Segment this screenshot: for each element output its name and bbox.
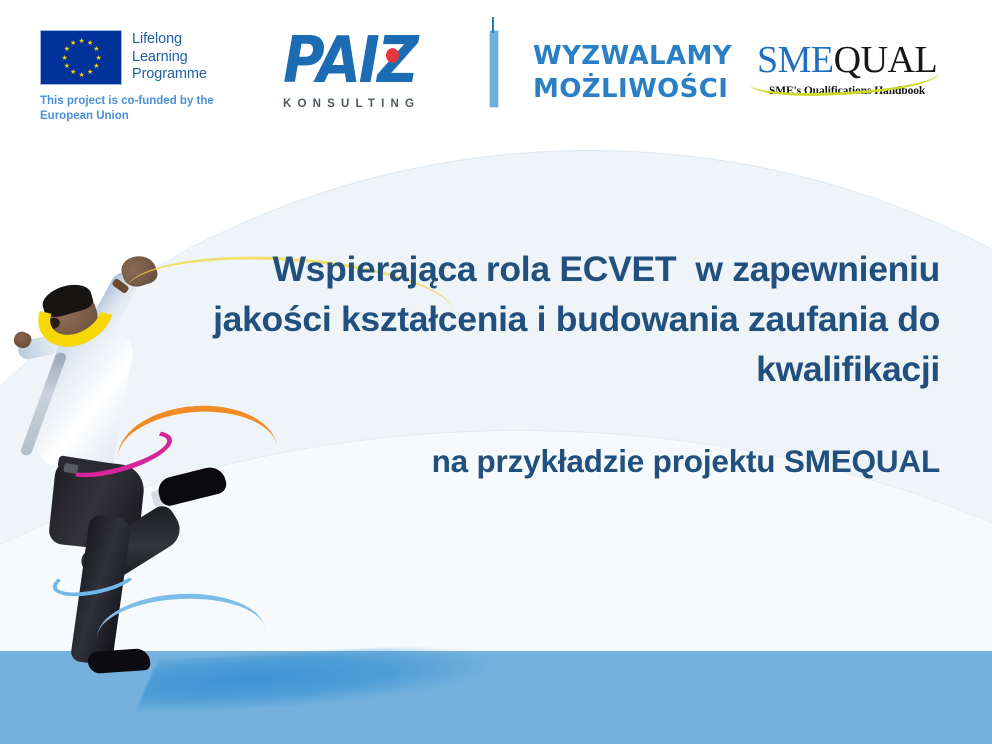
paiz-red-dot-icon [386,48,399,63]
logo-header-strip: Lifelong Learning Programme This project… [0,0,992,140]
claim-line-2: MOŻLIWOŚCI [533,73,732,106]
slide-title: Wspierająca rola ECVET w zapewnieniu jak… [180,244,940,394]
presentation-slide: Lifelong Learning Programme This project… [0,0,992,744]
smequal-tagline: SME's Qualifications Handbook [757,85,937,97]
eu-line-3: Programme [132,66,207,84]
eu-line-2: Learning [132,49,207,67]
smequal-sme-part: SME [757,39,834,81]
title-block: Wspierająca rola ECVET w zapewnieniu jak… [180,244,940,481]
company-claim: WYZWALAMY MOŻLIWOŚCI [533,40,732,106]
smequal-logo: SMEQUAL SME's Qualifications Handbook [757,40,937,97]
paiz-subtitle: KONSULTING [283,98,420,110]
paiz-konsulting-logo: PAIZ KONSULTING [283,28,420,110]
european-union-flag-icon [40,30,122,85]
eu-line-1: Lifelong [132,31,207,49]
eu-funding-caption: This project is co-funded by the Europea… [40,94,225,124]
eu-lifelong-learning-logo: Lifelong Learning Programme This project… [40,30,225,124]
eu-programme-name: Lifelong Learning Programme [132,30,207,84]
slide-subtitle: na przykładzie projektu SMEQUAL [180,441,940,481]
paiz-wordmark: PAIZ [283,28,420,93]
vertical-divider-bar [489,30,499,108]
smequal-qual-part: QUAL [834,39,938,81]
smequal-wordmark: SMEQUAL [757,40,937,80]
standing-shoe [87,648,150,674]
claim-line-1: WYZWALAMY [533,40,732,73]
